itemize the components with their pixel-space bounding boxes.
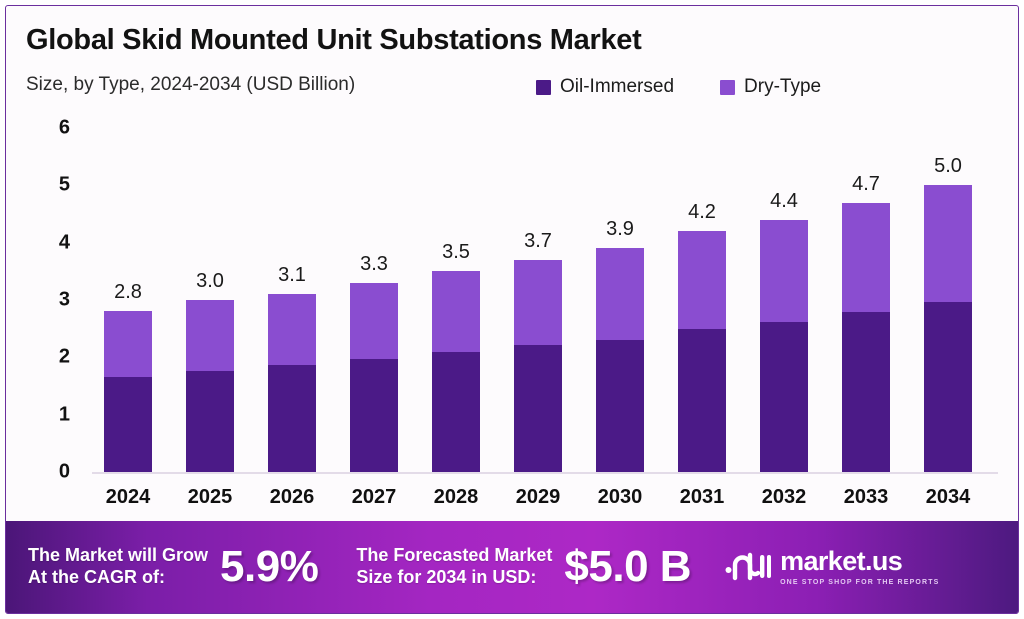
bar-stack[interactable] <box>678 231 726 472</box>
y-axis-tick-5: 5 <box>59 174 70 197</box>
y-axis-tick-3: 3 <box>59 289 70 312</box>
bar-stack[interactable] <box>186 300 234 472</box>
bar-stack[interactable] <box>432 271 480 472</box>
chart-subtitle: Size, by Type, 2024-2034 (USD Billion) <box>26 74 355 96</box>
bar-segment-dry-type[interactable] <box>678 231 726 329</box>
bar-segment-oil-immersed[interactable] <box>924 302 972 472</box>
legend-label: Oil-Immersed <box>560 76 674 98</box>
bar-value-label-2025: 3.0 <box>196 270 224 293</box>
square-swatch-icon <box>720 80 735 95</box>
bar-stack[interactable] <box>514 260 562 472</box>
bar-value-label-2033: 4.7 <box>852 173 880 196</box>
infographic-card: Global Skid Mounted Unit Substations Mar… <box>5 5 1019 614</box>
bar-stack[interactable] <box>350 283 398 472</box>
y-axis-tick-4: 4 <box>59 231 70 254</box>
x-axis-tick-2034: 2034 <box>926 486 971 509</box>
bar-value-label-2029: 3.7 <box>524 230 552 253</box>
x-axis-tick-2032: 2032 <box>762 486 807 509</box>
bar-group-2030[interactable]: 3.92030 <box>596 111 644 521</box>
cagr-caption-line2: At the CAGR of: <box>28 567 208 589</box>
bar-value-label-2024: 2.8 <box>114 281 142 304</box>
bar-group-2025[interactable]: 3.02025 <box>186 111 234 521</box>
bar-segment-dry-type[interactable] <box>596 248 644 339</box>
forecast-caption-line1: The Forecasted Market <box>356 545 552 567</box>
bar-segment-dry-type[interactable] <box>104 311 152 376</box>
bar-segment-oil-immersed[interactable] <box>596 340 644 472</box>
bar-group-2033[interactable]: 4.72033 <box>842 111 890 521</box>
forecast-value: $5.0 B <box>564 542 691 592</box>
bar-stack[interactable] <box>268 294 316 472</box>
bar-group-2029[interactable]: 3.72029 <box>514 111 562 521</box>
bar-value-label-2032: 4.4 <box>770 190 798 213</box>
page-title: Global Skid Mounted Unit Substations Mar… <box>26 24 641 57</box>
bar-stack[interactable] <box>104 311 152 472</box>
logo-tagline: ONE STOP SHOP FOR THE REPORTS <box>780 579 939 586</box>
bar-segment-oil-immersed[interactable] <box>678 329 726 472</box>
forecast-caption: The Forecasted Market Size for 2034 in U… <box>356 545 552 589</box>
bar-value-label-2030: 3.9 <box>606 218 634 241</box>
bar-segment-dry-type[interactable] <box>268 294 316 365</box>
bar-segment-oil-immersed[interactable] <box>514 345 562 472</box>
chart-header: Global Skid Mounted Unit Substations Mar… <box>6 6 1018 111</box>
bar-group-2034[interactable]: 5.02034 <box>924 111 972 521</box>
bar-segment-dry-type[interactable] <box>350 283 398 359</box>
bar-group-2024[interactable]: 2.82024 <box>104 111 152 521</box>
bar-value-label-2026: 3.1 <box>278 264 306 287</box>
bar-segment-oil-immersed[interactable] <box>432 352 480 472</box>
legend-item-2[interactable]: Dry-Type <box>720 76 821 98</box>
bar-segment-oil-immersed[interactable] <box>104 377 152 472</box>
cagr-caption: The Market will Grow At the CAGR of: <box>28 545 208 589</box>
bar-value-label-2031: 4.2 <box>688 201 716 224</box>
bar-segment-oil-immersed[interactable] <box>350 359 398 472</box>
bar-segment-oil-immersed[interactable] <box>186 371 234 472</box>
bar-value-label-2028: 3.5 <box>442 241 470 264</box>
market-us-logo[interactable]: market.us ONE STOP SHOP FOR THE REPORTS <box>725 548 939 587</box>
x-axis-tick-2029: 2029 <box>516 486 561 509</box>
bar-value-label-2027: 3.3 <box>360 253 388 276</box>
y-axis-tick-6: 6 <box>59 117 70 140</box>
bar-value-label-2034: 5.0 <box>934 155 962 178</box>
bar-segment-dry-type[interactable] <box>760 220 808 323</box>
y-axis-tick-0: 0 <box>59 461 70 484</box>
bar-stack[interactable] <box>596 248 644 472</box>
x-axis-tick-2027: 2027 <box>352 486 397 509</box>
market-us-logo-text: market.us ONE STOP SHOP FOR THE REPORTS <box>780 548 939 586</box>
bar-segment-dry-type[interactable] <box>842 203 890 313</box>
legend-item-1[interactable]: Oil-Immersed <box>536 76 674 98</box>
cagr-value: 5.9% <box>220 542 318 592</box>
x-axis-tick-2026: 2026 <box>270 486 315 509</box>
bar-segment-oil-immersed[interactable] <box>268 365 316 472</box>
y-axis-tick-2: 2 <box>59 346 70 369</box>
x-axis-tick-2025: 2025 <box>188 486 233 509</box>
bar-group-2032[interactable]: 4.42032 <box>760 111 808 521</box>
y-axis-tick-1: 1 <box>59 403 70 426</box>
bar-group-2028[interactable]: 3.52028 <box>432 111 480 521</box>
bar-segment-oil-immersed[interactable] <box>760 322 808 472</box>
bar-group-2031[interactable]: 4.22031 <box>678 111 726 521</box>
bar-group-2026[interactable]: 3.12026 <box>268 111 316 521</box>
market-us-logo-mark <box>725 548 771 587</box>
cagr-caption-line1: The Market will Grow <box>28 545 208 567</box>
bar-group-2027[interactable]: 3.32027 <box>350 111 398 521</box>
footer-banner: The Market will Grow At the CAGR of: 5.9… <box>6 521 1018 613</box>
bar-segment-dry-type[interactable] <box>924 185 972 301</box>
forecast-caption-line2: Size for 2034 in USD: <box>356 567 552 589</box>
bar-segment-dry-type[interactable] <box>514 260 562 345</box>
x-axis-tick-2028: 2028 <box>434 486 479 509</box>
x-axis-tick-2024: 2024 <box>106 486 151 509</box>
bar-series-container: 2.820243.020253.120263.320273.520283.720… <box>92 111 998 521</box>
bar-stack[interactable] <box>842 203 890 472</box>
bar-stack[interactable] <box>760 220 808 472</box>
bar-segment-oil-immersed[interactable] <box>842 312 890 472</box>
chart-legend: Oil-ImmersedDry-Type <box>536 74 821 100</box>
bar-segment-dry-type[interactable] <box>432 271 480 352</box>
y-axis: 0123456 <box>6 111 92 521</box>
x-axis-tick-2033: 2033 <box>844 486 889 509</box>
logo-wordmark: market.us <box>780 548 939 575</box>
x-axis-tick-2030: 2030 <box>598 486 643 509</box>
square-swatch-icon <box>536 80 551 95</box>
legend-label: Dry-Type <box>744 76 821 98</box>
chart-plot-area: 0123456 2.820243.020253.120263.320273.52… <box>6 111 1018 521</box>
bar-segment-dry-type[interactable] <box>186 300 234 371</box>
bar-stack[interactable] <box>924 185 972 472</box>
x-axis-tick-2031: 2031 <box>680 486 725 509</box>
